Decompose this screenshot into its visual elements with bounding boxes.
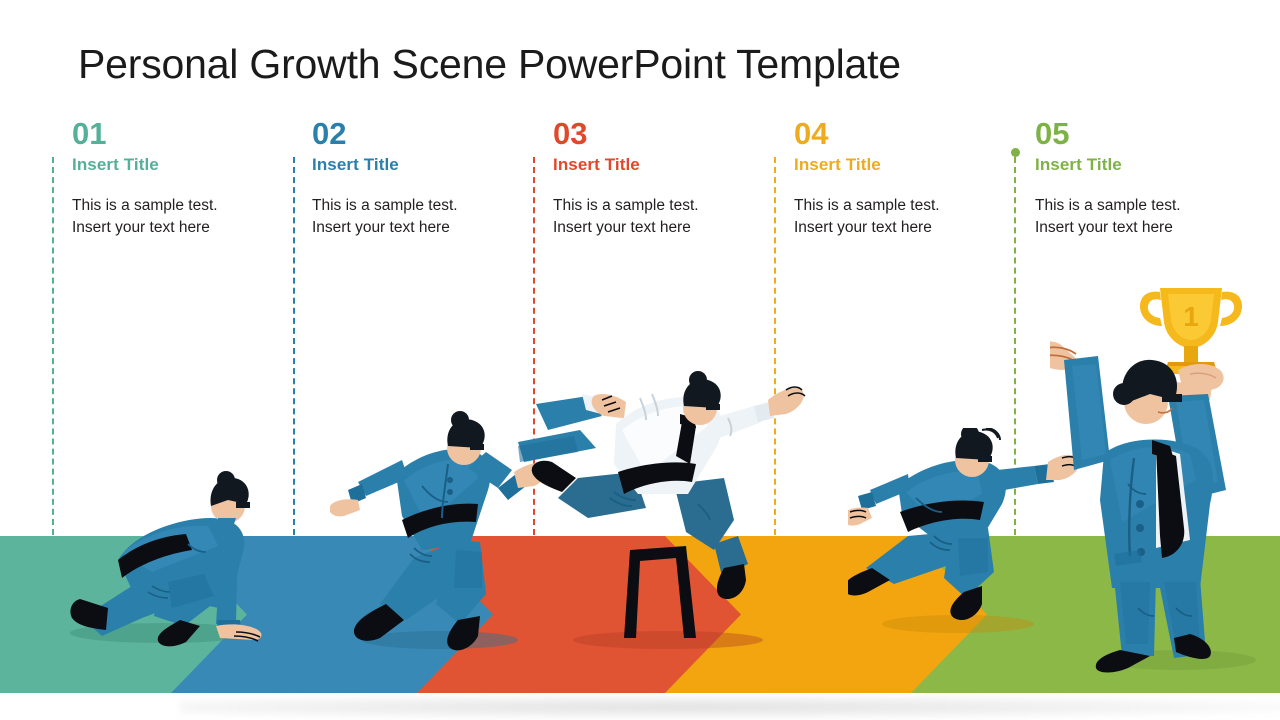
step-title-04[interactable]: Insert Title (794, 156, 1026, 173)
step-column-01[interactable]: 01Insert TitleThis is a sample test.Inse… (72, 118, 304, 240)
divider-line-01 (52, 157, 54, 535)
step-body-line1-01: This is a sample test. (72, 197, 218, 214)
step-body-line1-04: This is a sample test. (794, 197, 940, 214)
step-number-01: 01 (72, 118, 304, 149)
step-title-02[interactable]: Insert Title (312, 156, 544, 173)
step-body-line2-04: Insert your text here (794, 217, 1026, 239)
step-body-line1-02: This is a sample test. (312, 197, 458, 214)
trophy-icon: 1 (1140, 288, 1242, 374)
step-body-05[interactable]: This is a sample test.Insert your text h… (1035, 195, 1267, 240)
step-column-03[interactable]: 03Insert TitleThis is a sample test.Inse… (553, 118, 785, 240)
step-number-04: 04 (794, 118, 1026, 149)
step-column-02[interactable]: 02Insert TitleThis is a sample test.Inse… (312, 118, 544, 240)
step-body-line2-05: Insert your text here (1035, 217, 1267, 239)
trophy-number: 1 (1183, 301, 1199, 332)
slide-canvas: Personal Growth Scene PowerPoint Templat… (0, 0, 1280, 720)
step-body-line1-03: This is a sample test. (553, 197, 699, 214)
step-body-line1-05: This is a sample test. (1035, 197, 1181, 214)
chevron-progress-band (0, 536, 1280, 693)
step-body-01[interactable]: This is a sample test.Insert your text h… (72, 195, 304, 240)
step-title-01[interactable]: Insert Title (72, 156, 304, 173)
step-body-04[interactable]: This is a sample test.Insert your text h… (794, 195, 1026, 240)
step-body-line2-03: Insert your text here (553, 217, 785, 239)
step-body-02[interactable]: This is a sample test.Insert your text h… (312, 195, 544, 240)
step-number-05: 05 (1035, 118, 1267, 149)
step-number-03: 03 (553, 118, 785, 149)
step-column-04[interactable]: 04Insert TitleThis is a sample test.Inse… (794, 118, 1026, 240)
step-column-05[interactable]: 05Insert TitleThis is a sample test.Inse… (1035, 118, 1267, 240)
step-body-line2-01: Insert your text here (72, 217, 304, 239)
step-body-line2-02: Insert your text here (312, 217, 544, 239)
step-title-03[interactable]: Insert Title (553, 156, 785, 173)
step-title-05[interactable]: Insert Title (1035, 156, 1267, 173)
step-body-03[interactable]: This is a sample test.Insert your text h… (553, 195, 785, 240)
step-number-02: 02 (312, 118, 544, 149)
page-title: Personal Growth Scene PowerPoint Templat… (78, 42, 1198, 87)
band-drop-shadow (180, 694, 1280, 720)
